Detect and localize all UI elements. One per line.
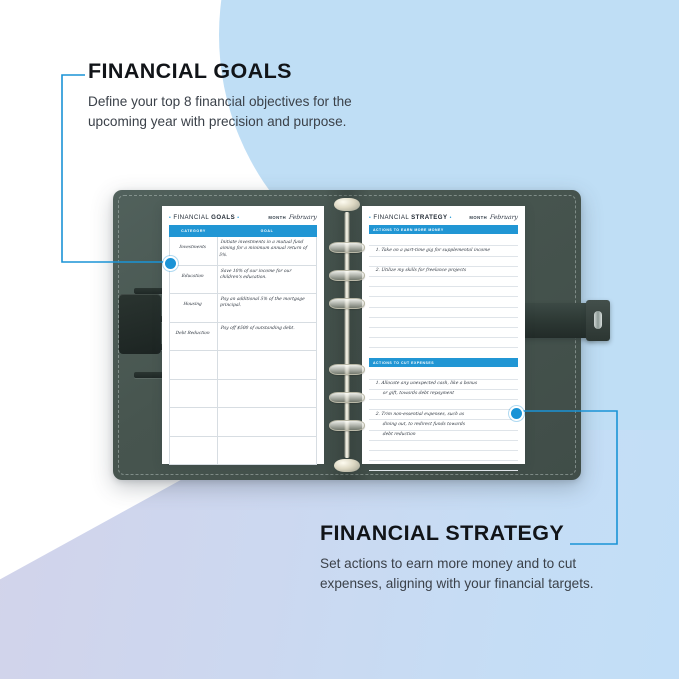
bullet-icon: • <box>169 215 171 221</box>
cell-goal <box>218 351 317 380</box>
lined-area: 1. Allocate any unexpected cash, like a … <box>369 369 518 471</box>
bullet-icon: • <box>450 215 452 221</box>
category-text: Education <box>172 269 214 280</box>
cell-category <box>170 351 218 380</box>
left-month-field: MONTH February <box>268 214 317 221</box>
goals-table-header-row: CATEGORY GOAL <box>170 226 317 237</box>
cell-category: Debt Reduction <box>170 322 218 351</box>
table-row <box>170 379 317 408</box>
handwritten-entry: 2. Utilize my skills for freelance proje… <box>375 268 466 274</box>
ring-cap-top <box>334 198 360 211</box>
binder-ring <box>329 392 365 403</box>
writing-line <box>369 257 518 267</box>
left-month-value: February <box>289 214 318 221</box>
cell-goal: Pay off $500 of outstanding debt. <box>218 322 317 351</box>
binder-ring <box>329 364 365 375</box>
planner-binder: • FINANCIAL GOALS • MONTH February CATEG… <box>113 190 581 480</box>
col-header-category: CATEGORY <box>170 226 218 237</box>
cell-category <box>170 379 218 408</box>
col-header-goal: GOAL <box>218 226 317 237</box>
writing-line <box>369 297 518 307</box>
left-month-label: MONTH <box>268 215 286 220</box>
writing-line: or gift, towards debt repayment <box>369 390 518 400</box>
writing-line: 2. Trim non-essential expenses, such as <box>369 410 518 420</box>
table-row: Debt ReductionPay off $500 of outstandin… <box>170 322 317 351</box>
category-text: Housing <box>172 297 214 308</box>
writing-line: 1. Take on a part-time gig for supplemen… <box>369 246 518 256</box>
cell-goal <box>218 408 317 437</box>
binder-clasp <box>586 300 610 341</box>
right-title-strong: STRATEGY <box>411 214 447 221</box>
cell-goal: Initiate investments in a mutual fund ai… <box>218 237 317 266</box>
writing-line <box>369 328 518 338</box>
category-text: Investments <box>172 240 214 251</box>
goal-text: Save 10% of our income for our children'… <box>219 269 313 282</box>
lined-area: 1. Take on a part-time gig for supplemen… <box>369 236 518 348</box>
section-heading: ACTIONS TO CUT EXPENSES <box>369 358 518 367</box>
cell-category: Housing <box>170 294 218 323</box>
writing-line: dining out, to redirect funds towards <box>369 420 518 430</box>
cell-goal <box>218 379 317 408</box>
handwritten-entry: 1. Allocate any unexpected cash, like a … <box>375 381 477 387</box>
cell-goal <box>218 436 317 465</box>
callout-goals: FINANCIAL GOALS Define your top 8 financ… <box>88 60 378 133</box>
category-text: Debt Reduction <box>172 326 214 337</box>
page-financial-goals: • FINANCIAL GOALS • MONTH February CATEG… <box>162 206 324 464</box>
callout-dot-goals[interactable] <box>163 256 178 271</box>
writing-line <box>369 400 518 410</box>
writing-line <box>369 338 518 348</box>
left-page-title: • FINANCIAL GOALS • <box>169 214 239 221</box>
writing-line <box>369 441 518 451</box>
handwritten-entry: dining out, to redirect funds towards <box>382 422 465 428</box>
left-title-prefix: FINANCIAL <box>173 214 209 221</box>
writing-line: 2. Utilize my skills for freelance proje… <box>369 267 518 277</box>
goals-table: CATEGORY GOAL InvestmentsInitiate invest… <box>169 225 317 465</box>
writing-line <box>369 236 518 246</box>
bullet-icon: • <box>369 215 371 221</box>
cell-category: Education <box>170 265 218 294</box>
writing-line <box>369 318 518 328</box>
table-row <box>170 351 317 380</box>
cell-goal: Pay an additional 5% of the mortgage pri… <box>218 294 317 323</box>
writing-line: 1. Allocate any unexpected cash, like a … <box>369 380 518 390</box>
binder-ring <box>329 298 365 309</box>
table-row: InvestmentsInitiate investments in a mut… <box>170 237 317 266</box>
cell-goal: Save 10% of our income for our children'… <box>218 265 317 294</box>
table-row: HousingPay an additional 5% of the mortg… <box>170 294 317 323</box>
page-root: FINANCIAL GOALS Define your top 8 financ… <box>0 0 679 679</box>
right-month-label: MONTH <box>469 215 487 220</box>
left-title-strong: GOALS <box>211 214 235 221</box>
cell-category <box>170 408 218 437</box>
writing-line <box>369 369 518 379</box>
writing-line <box>369 308 518 318</box>
section-spacer <box>369 348 518 358</box>
inner-pocket <box>119 294 161 354</box>
handwritten-entry: 2. Trim non-essential expenses, such as <box>375 412 464 418</box>
right-page-header: • FINANCIAL STRATEGY • MONTH February <box>369 214 518 221</box>
right-title-prefix: FINANCIAL <box>373 214 409 221</box>
writing-line <box>369 451 518 461</box>
ring-cap-bottom <box>334 459 360 472</box>
handwritten-entry: debt reduction <box>382 432 416 438</box>
strategy-body: Set actions to earn more money and to cu… <box>320 554 620 596</box>
goal-text: Pay off $500 of outstanding debt. <box>220 326 313 332</box>
page-financial-strategy: • FINANCIAL STRATEGY • MONTH February AC… <box>362 206 525 464</box>
table-row <box>170 436 317 465</box>
handwritten-entry: or gift, towards debt repayment <box>382 391 454 397</box>
section-heading: ACTIONS TO EARN MORE MONEY <box>369 225 518 234</box>
goal-text: Pay an additional 5% of the mortgage pri… <box>219 297 313 310</box>
handwritten-entry: 1. Take on a part-time gig for supplemen… <box>375 248 490 254</box>
left-page-header: • FINANCIAL GOALS • MONTH February <box>169 214 317 221</box>
strategy-sections: ACTIONS TO EARN MORE MONEY1. Take on a p… <box>369 225 518 471</box>
writing-line <box>369 277 518 287</box>
ring-mechanism <box>327 198 367 472</box>
strategy-title: FINANCIAL STRATEGY <box>320 522 620 545</box>
right-month-value: February <box>490 214 519 221</box>
right-page-title: • FINANCIAL STRATEGY • <box>369 214 452 221</box>
category-text <box>172 354 214 359</box>
right-month-field: MONTH February <box>469 214 518 221</box>
goals-body: Define your top 8 financial objectives f… <box>88 92 378 134</box>
writing-line: debt reduction <box>369 431 518 441</box>
binder-ring <box>329 270 365 281</box>
table-row: EducationSave 10% of our income for our … <box>170 265 317 294</box>
callout-dot-strategy[interactable] <box>509 406 524 421</box>
writing-line <box>369 287 518 297</box>
goal-text: Initiate investments in a mutual fund ai… <box>219 240 313 259</box>
cell-category <box>170 436 218 465</box>
category-text <box>172 440 214 445</box>
table-row <box>170 408 317 437</box>
category-text <box>172 411 214 416</box>
binder-strap <box>517 303 595 338</box>
binder-ring <box>329 242 365 253</box>
binder-ring <box>329 420 365 431</box>
writing-line <box>369 461 518 471</box>
callout-strategy: FINANCIAL STRATEGY Set actions to earn m… <box>320 522 620 595</box>
bullet-icon: • <box>237 215 239 221</box>
goals-title: FINANCIAL GOALS <box>88 60 378 83</box>
category-text <box>172 383 214 388</box>
